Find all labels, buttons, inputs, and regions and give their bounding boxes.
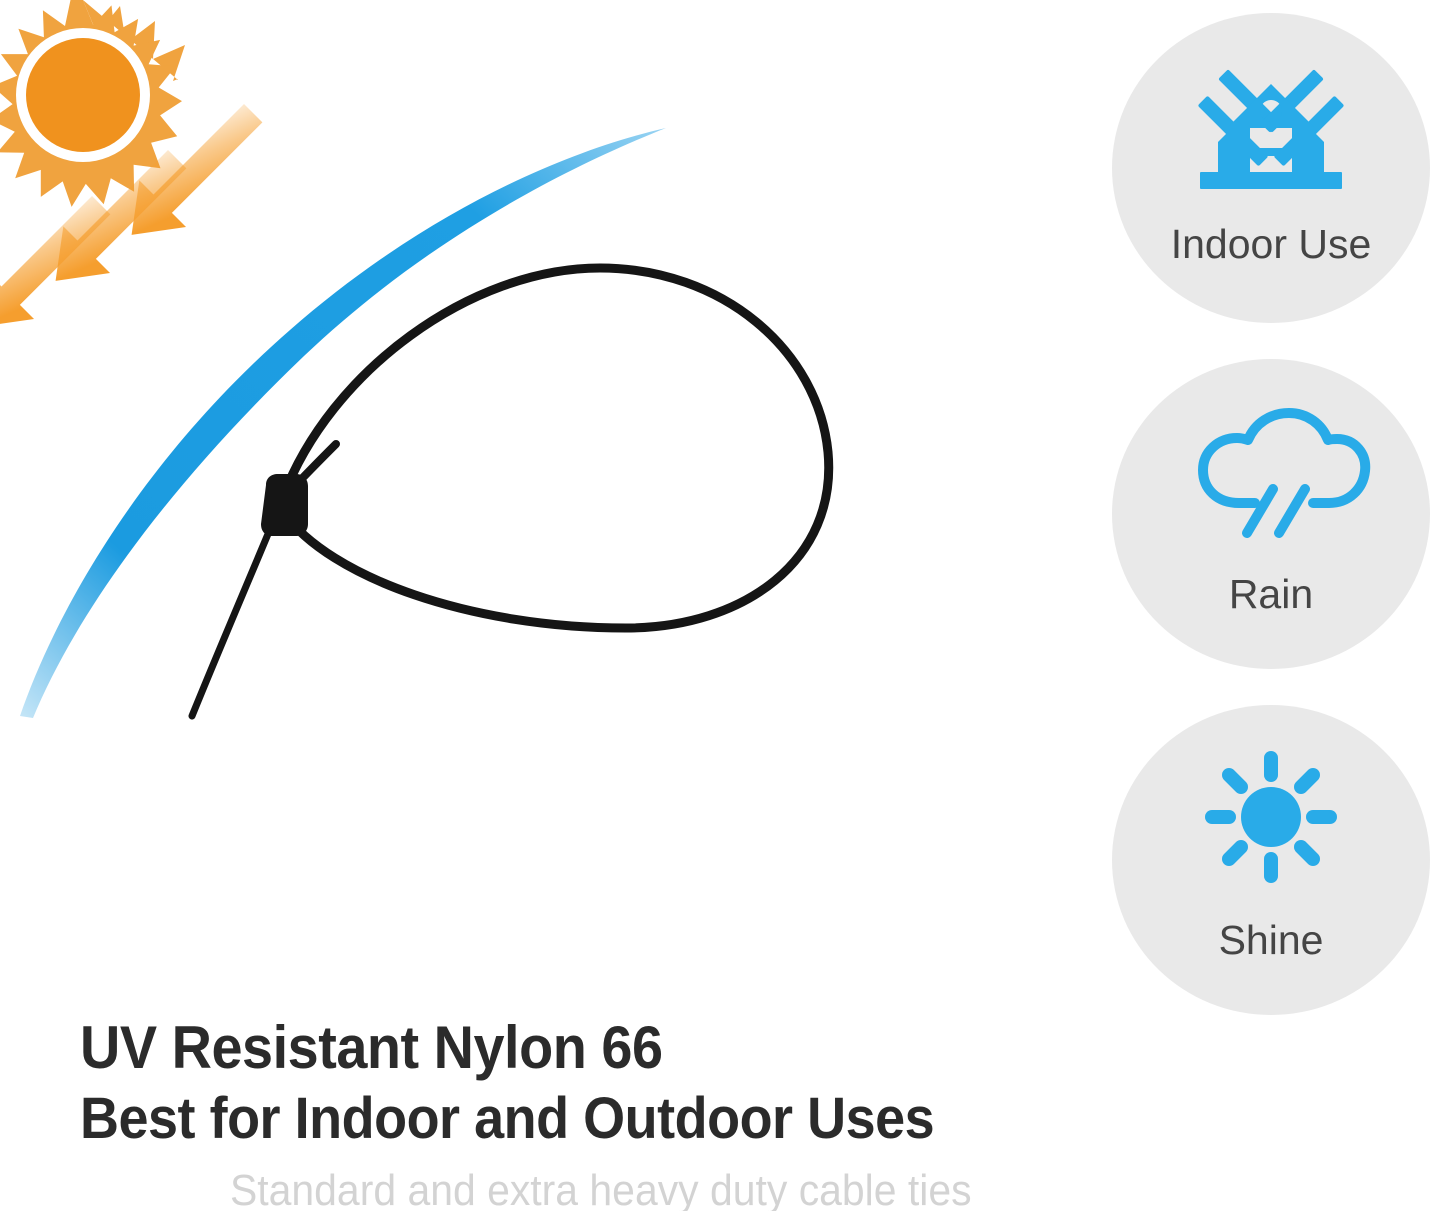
sun-core — [26, 38, 140, 152]
house-base-bar — [1200, 172, 1342, 189]
headline-block: UV Resistant Nylon 66 Best for Indoor an… — [80, 1012, 1070, 1211]
feature-label-rain: Rain — [1229, 571, 1313, 617]
cable-tie-tail — [192, 534, 268, 716]
shine-ray-sw — [1229, 847, 1241, 859]
headline-line-1: UV Resistant Nylon 66 — [80, 1012, 1001, 1083]
product-infographic: UV Resistant Nylon 66 Best for Indoor an… — [0, 0, 1432, 1211]
feature-label-indoor-use: Indoor Use — [1171, 221, 1372, 267]
shine-ray-ne — [1301, 775, 1313, 787]
cloud-outline — [1203, 413, 1365, 503]
sun-shine-icon — [1196, 751, 1346, 883]
house-wall-right — [1314, 132, 1324, 172]
headline-line-2: Best for Indoor and Outdoor Uses — [80, 1083, 1001, 1154]
shine-ray-nw — [1229, 775, 1241, 787]
rain-cloud-icon — [1196, 407, 1346, 539]
feature-badge-shine[interactable]: Shine — [1112, 705, 1430, 1015]
headline-line-3: Standard and extra heavy duty cable ties — [230, 1164, 1011, 1211]
rain-streak-2 — [1279, 489, 1305, 533]
feature-badge-rain[interactable]: Rain — [1112, 359, 1430, 669]
rain-streak-1 — [1247, 489, 1273, 533]
feature-badge-indoor-use[interactable]: Indoor Use — [1112, 13, 1430, 323]
feature-label-shine: Shine — [1219, 917, 1324, 963]
cable-tie-loop — [283, 268, 829, 628]
shine-core — [1241, 787, 1301, 847]
house-icon — [1196, 65, 1346, 197]
uv-resistance-illustration — [0, 0, 1060, 990]
cable-tie-head — [261, 474, 308, 536]
shine-ray-se — [1301, 847, 1313, 859]
feature-badge-list: Indoor Use Rain — [1112, 13, 1432, 1051]
